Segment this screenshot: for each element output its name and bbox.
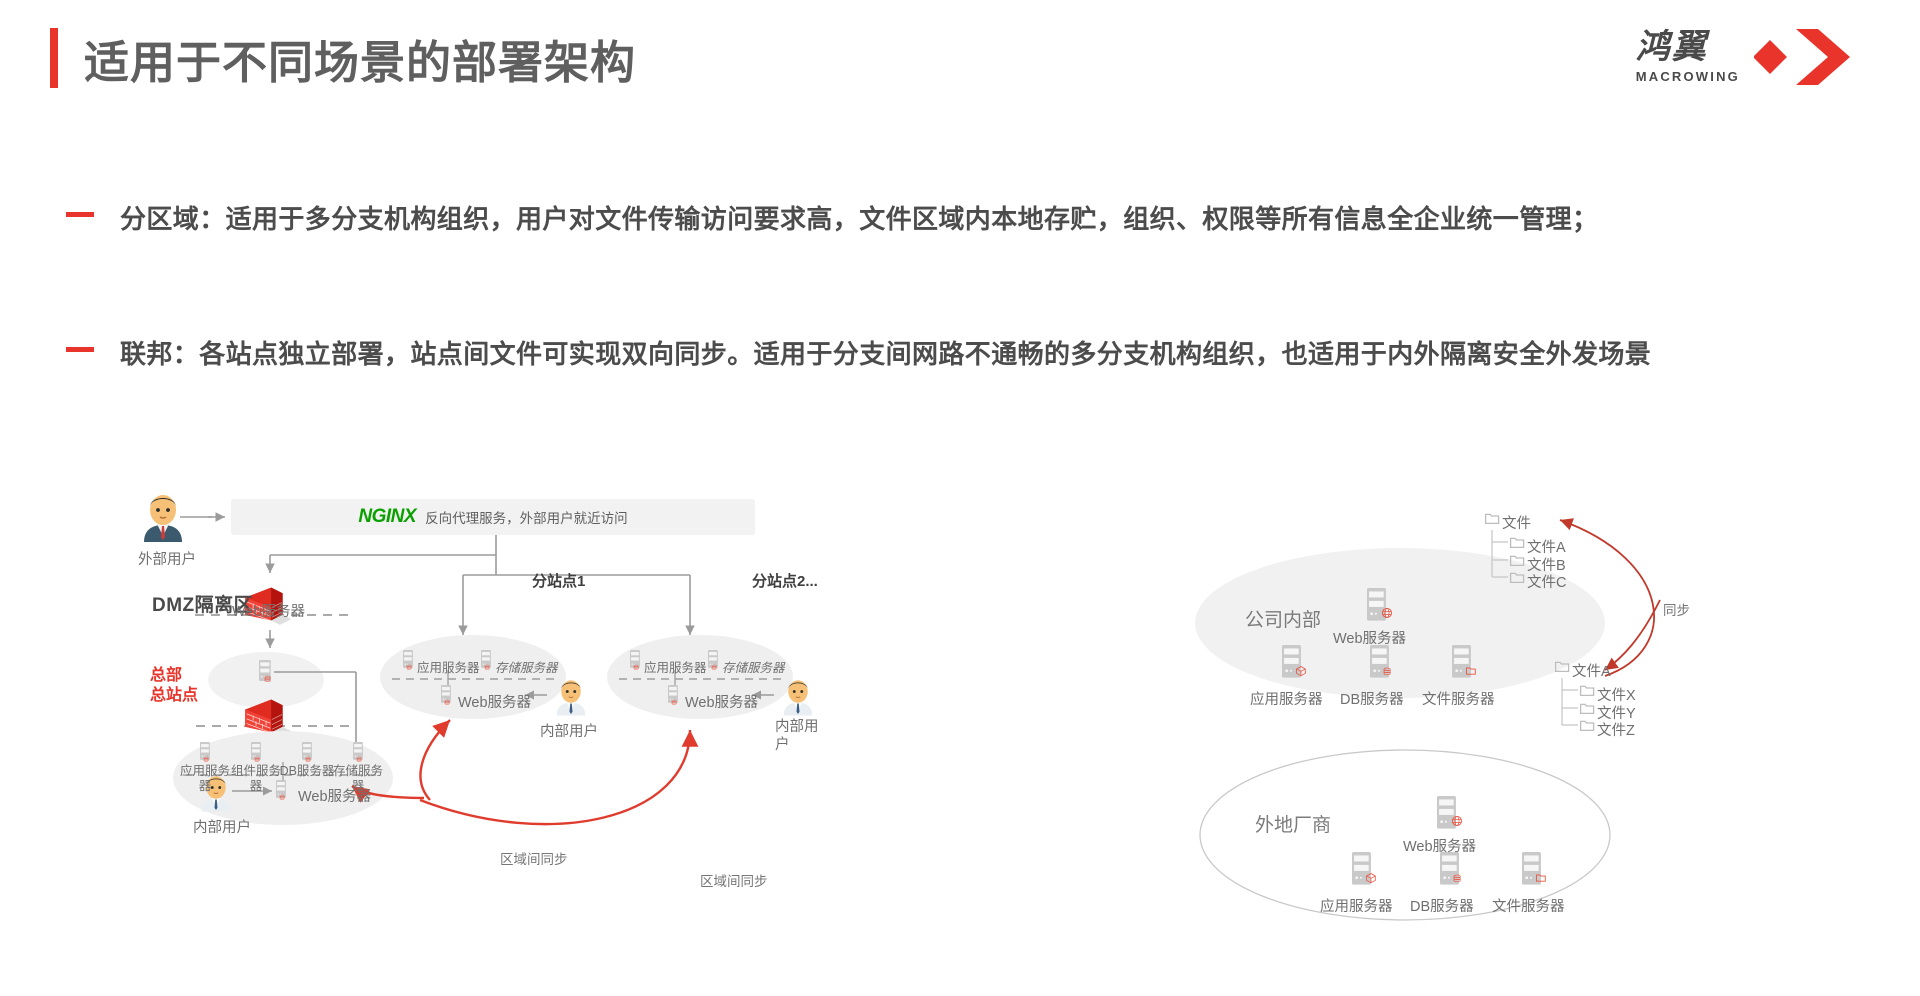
site2-internal-user-avatar [780, 676, 816, 721]
logo-diamond-chevron-icon [1754, 27, 1876, 87]
hq-internal-user-label: 内部用户 [193, 816, 251, 837]
company-server-label-0: 应用服务器 [1250, 688, 1323, 709]
company-server-label-1: DB服务器 [1340, 688, 1404, 709]
logo-text: 鸿翼 MACROWING [1636, 30, 1740, 84]
sync-label-right: 同步 [1663, 599, 1690, 619]
company-internal-title: 公司内部 [1245, 605, 1321, 632]
logo-chinese-name: 鸿翼 [1636, 30, 1708, 64]
hq-title-line1: 总部 [150, 667, 182, 684]
bullet-item-2: 联邦：各站点独立部署，站点间文件可实现双向同步。适用于分支间网路不通畅的多分支机… [60, 330, 1860, 378]
sync-label-region-2: 区域间同步 [700, 870, 768, 890]
nginx-caption: 反向代理服务，外部用户就近访问 [425, 507, 628, 527]
headquarters-title: 总部 总站点 [150, 666, 198, 706]
site1-server-label-1: 存储服务器 [495, 657, 558, 676]
company-tree-root-label: 文件 [1502, 512, 1531, 533]
vendor-title: 外地厂商 [1255, 810, 1331, 837]
hq-server-label-1: 组件服务器 [228, 764, 284, 794]
site1-title: 分站点1 [532, 570, 585, 591]
hq-server-label-2: DB服务器 [279, 764, 335, 779]
vendor-server-label-2: 文件服务器 [1492, 895, 1565, 916]
site2-title: 分站点2... [752, 570, 818, 591]
external-user-avatar [139, 490, 187, 547]
page-title: 适用于不同场景的部署架构 [84, 26, 636, 91]
hq-web-server-label: Web服务器 [298, 785, 371, 806]
bullet-dash-icon [66, 212, 94, 217]
company-tree-child-2: 文件C [1527, 571, 1566, 592]
title-accent-bar [50, 28, 58, 88]
bullet-text-2: 联邦：各站点独立部署，站点间文件可实现双向同步。适用于分支间网路不通畅的多分支机… [120, 330, 1860, 378]
dmz-web-server-label: Web服务器 [232, 600, 305, 621]
vendor-web-server-label: Web服务器 [1403, 835, 1476, 856]
nginx-logo: NGINX [358, 506, 416, 528]
architecture-diagram: 外部用户 内部用户 内部用户 [0, 480, 1920, 996]
logo-english-name: MACROWING [1636, 69, 1740, 84]
bullet-item-1: 分区域：适用于多分支机构组织，用户对文件传输访问要求高，文件区域内本地存贮，组织… [60, 195, 1860, 243]
site1-web-server-label: Web服务器 [458, 691, 531, 712]
page-header: 适用于不同场景的部署架构 鸿翼 MACROWING [0, 0, 1920, 120]
vendor-tree-root-label: 文件A [1572, 660, 1611, 681]
vendor-server-label-0: 应用服务器 [1320, 895, 1393, 916]
site2-server-label-0: 应用服务器 [644, 657, 707, 676]
company-server-label-2: 文件服务器 [1422, 688, 1495, 709]
bullet-text-1: 分区域：适用于多分支机构组织，用户对文件传输访问要求高，文件区域内本地存贮，组织… [120, 195, 1860, 243]
vendor-server-label-1: DB服务器 [1410, 895, 1474, 916]
site2-web-server-label: Web服务器 [685, 691, 758, 712]
site2-internal-user-label: 内部用户 [775, 718, 821, 754]
vendor-tree-child-2: 文件Z [1597, 719, 1635, 740]
site2-server-label-1: 存储服务器 [722, 657, 785, 676]
bullet-dash-icon [66, 347, 94, 352]
hq-title-line2: 总站点 [150, 687, 198, 704]
external-user-label: 外部用户 [138, 548, 196, 569]
brand-logo: 鸿翼 MACROWING [1636, 22, 1876, 92]
nginx-reverse-proxy-banner: NGINX 反向代理服务，外部用户就近访问 [231, 499, 755, 535]
company-web-server-label: Web服务器 [1333, 627, 1406, 648]
site1-internal-user-label: 内部用户 [540, 720, 598, 741]
sync-label-region-1: 区域间同步 [500, 848, 568, 868]
site1-internal-user-avatar [553, 676, 589, 721]
hq-server-label-0: 应用服务器 [177, 764, 233, 794]
site1-server-label-0: 应用服务器 [417, 657, 480, 676]
